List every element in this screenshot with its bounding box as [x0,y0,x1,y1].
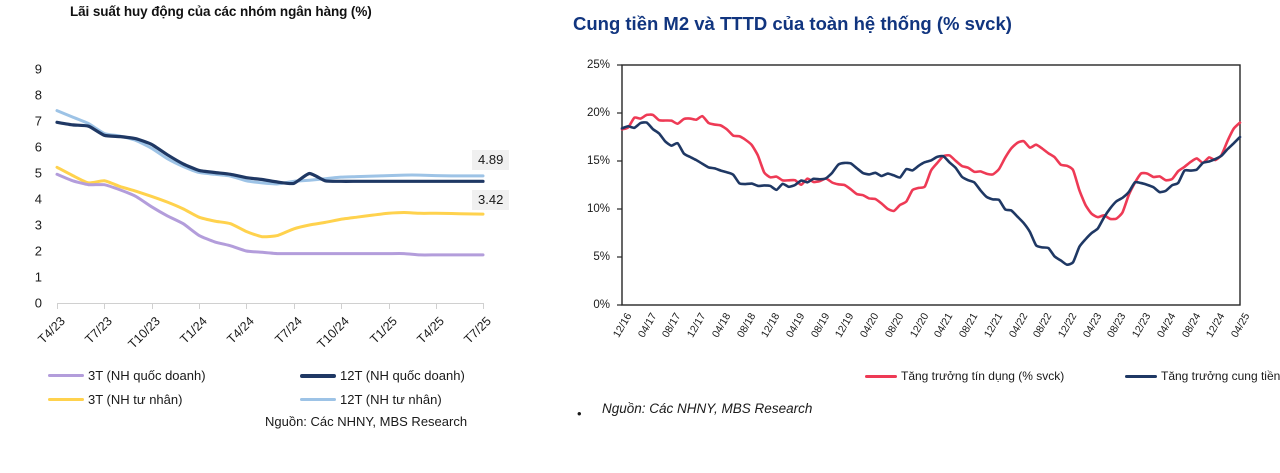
series-line-12t-nh-t-nh-n- [57,111,483,184]
left-x-tick [199,303,200,309]
legend-item-credit-growth[interactable]: Tăng trưởng tín dụng (% svck) [865,369,1064,383]
legend-item-3t-state[interactable]: 3T (NH quốc doanh) [48,368,206,383]
legend-item-12t-private[interactable]: 12T (NH tư nhân) [300,392,442,407]
left-chart-plot [0,0,545,310]
left-x-tick [341,303,342,309]
left-x-tick [389,303,390,309]
left-x-label-3: T1/24 [159,314,210,365]
right-chart-plot [545,0,1280,312]
left-x-label-0: T4/23 [17,314,68,365]
legend-swatch-yellow [48,398,84,402]
legend-swatch-lightblue [300,398,336,402]
left-x-label-4: T4/24 [206,314,257,365]
left-x-label-8: T4/25 [396,314,447,365]
left-x-label-7: T1/25 [349,314,400,365]
legend-label-12t-private: 12T (NH tư nhân) [340,392,442,407]
legend-item-3t-private[interactable]: 3T (NH tư nhân) [48,392,182,407]
legend-item-m2-growth[interactable]: Tăng trưởng cung tiền M2 (% svck) [1125,369,1280,383]
legend-swatch-purple [48,374,84,378]
left-x-label-9: T7/25 [443,314,494,365]
legend-label-3t-state: 3T (NH quốc doanh) [88,368,206,383]
left-x-tick [246,303,247,309]
left-x-tick [294,303,295,309]
source-bullet-icon: • [577,406,582,421]
legend-swatch-navy-2 [1125,375,1157,378]
left-x-tick [152,303,153,309]
data-label-12t-private: 4.89 [472,150,509,170]
left-chart-source: Nguồn: Các NHNY, MBS Research [265,414,467,429]
legend-item-12t-state[interactable]: 12T (NH quốc doanh) [300,368,465,383]
left-x-label-6: T10/24 [301,314,352,365]
legend-label-12t-state: 12T (NH quốc doanh) [340,368,465,383]
left-x-label-2: T10/23 [112,314,163,365]
legend-label-3t-private: 3T (NH tư nhân) [88,392,182,407]
left-x-label-1: T7/23 [64,314,115,365]
legend-swatch-navy [300,374,336,378]
right-chart-panel: Cung tiền M2 và TTTD của toàn hệ thống (… [545,0,1280,473]
series-line-m2-growth [622,122,1240,264]
left-x-tick [104,303,105,309]
data-label-3t-private: 3.42 [472,190,509,210]
legend-label-credit-growth: Tăng trưởng tín dụng (% svck) [901,369,1064,383]
legend-swatch-red [865,375,897,378]
left-x-label-5: T7/24 [254,314,305,365]
left-chart-panel: Lãi suất huy động của các nhóm ngân hàng… [0,0,545,473]
left-x-tick [57,303,58,309]
left-x-tick [483,303,484,309]
left-x-axis-line [57,303,484,304]
series-line-credit-growth [622,115,1240,220]
series-line-3t-nh-t-nh-n- [57,167,483,236]
left-x-tick [436,303,437,309]
right-chart-source: Nguồn: Các NHNY, MBS Research [602,401,812,416]
legend-label-m2-growth: Tăng trưởng cung tiền M2 (% svck) [1161,369,1280,383]
